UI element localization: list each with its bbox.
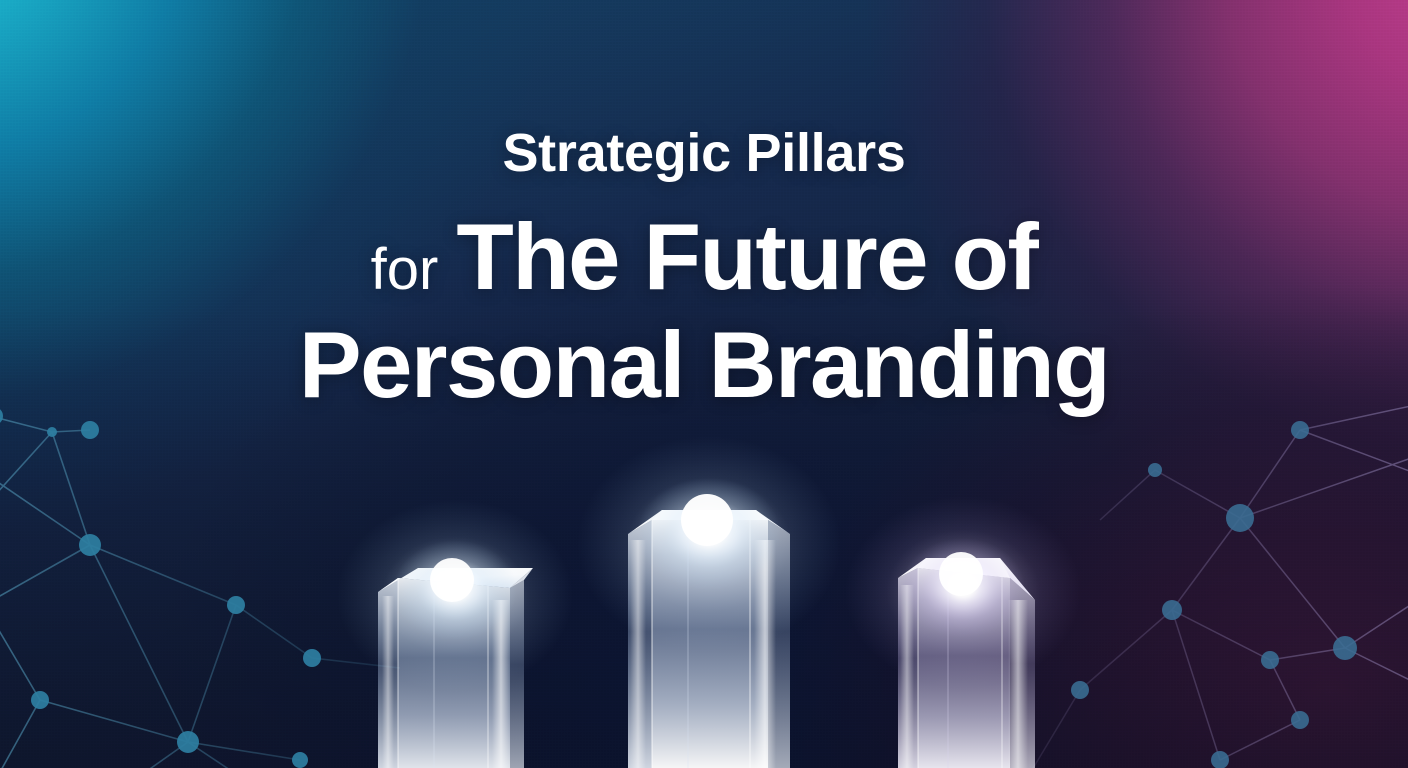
headline-line-1: forThe Future of xyxy=(0,210,1408,304)
title-group: Strategic Pillars forThe Future of Perso… xyxy=(0,126,1408,412)
headline-line-2: Personal Branding xyxy=(0,318,1408,412)
eyebrow-text: Strategic Pillars xyxy=(0,126,1408,180)
headline-main-text: The Future of xyxy=(456,204,1037,309)
title-slide-canvas: Strategic Pillars forThe Future of Perso… xyxy=(0,0,1408,768)
headline-prefix-for: for xyxy=(371,237,439,302)
